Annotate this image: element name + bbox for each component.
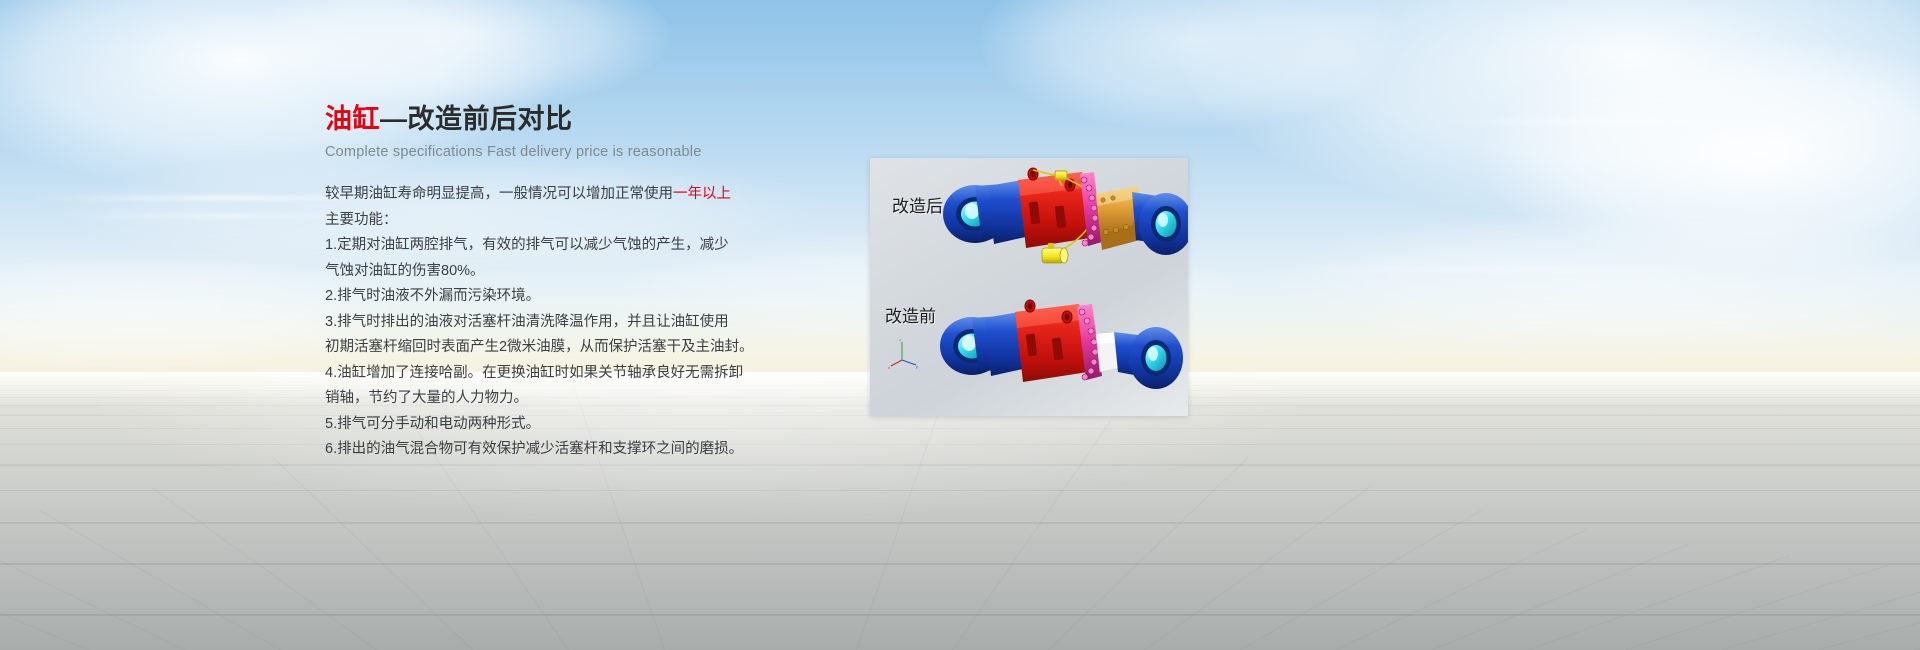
paving-line-vertical <box>0 529 185 650</box>
description-text: 4.油缸增加了连接哈副。在更换油缸时如果关节轴承良好无需拆卸 <box>325 365 743 381</box>
description-text: 较早期油缸寿命明显提高，一般情况可以增加正常使用 <box>325 186 673 202</box>
description-text: 5.排气可分手动和电动两种形式。 <box>325 416 540 432</box>
description-text: 2.排气时油液不外漏而污染环境。 <box>325 288 540 304</box>
description-line: 3.排气时排出的油液对活塞杆油清洗降温作用，并且让油缸使用 <box>325 310 755 336</box>
paving-line-vertical <box>1432 543 1689 650</box>
description-text: 1.定期对油缸两腔排气，有效的排气可以减少气蚀的产生，减少 <box>325 237 729 253</box>
description-highlight: 一年以上 <box>673 186 731 202</box>
cloud-streak <box>1430 120 1790 124</box>
paving-line-horizontal <box>0 563 1920 565</box>
banner-stage: 油缸—改造前后对比 Complete specifications Fast d… <box>0 0 1920 650</box>
cylinder-before-modification <box>940 300 1183 389</box>
svg-text:y: y <box>916 364 918 369</box>
page-title-rest: —改造前后对比 <box>380 104 573 134</box>
paving-line-horizontal <box>0 490 1920 491</box>
paving-line-horizontal <box>0 428 1920 429</box>
description-text: 初期活塞杆缩回时表面产生2微米油膜，从而保护活塞干及主油封。 <box>325 339 754 355</box>
description-line: 销轴，节约了大量的人力物力。 <box>325 386 755 412</box>
paving-line-vertical <box>856 387 948 650</box>
svg-text:z: z <box>899 337 901 342</box>
page-title-accent: 油缸 <box>325 104 380 134</box>
front-eye-blue-after <box>1132 192 1188 255</box>
product-image-panel: z x y 改造后 改造前 <box>870 158 1188 416</box>
description-text: 主要功能： <box>325 212 398 228</box>
cylinder-after-modification <box>943 168 1188 263</box>
description-text: 气蚀对油缸的伤害80%。 <box>325 263 485 279</box>
paving-line-horizontal <box>0 614 1920 616</box>
paving-line-vertical <box>1048 457 1249 650</box>
front-eye-blue-before <box>1114 327 1183 389</box>
page-title: 油缸—改造前后对比 <box>325 104 755 135</box>
paving-line-vertical <box>272 457 473 650</box>
axis-gizmo-icon: z x y <box>888 337 918 370</box>
label-after-modification: 改造后 <box>892 192 943 217</box>
bleed-fitting-after <box>1055 171 1067 180</box>
cloud-streak <box>1240 268 1760 272</box>
description-line: 1.定期对油缸两腔排气，有效的排气可以减少气蚀的产生，减少 <box>325 233 755 259</box>
description-line: 初期活塞杆缩回时表面产生2微米油膜，从而保护活塞干及主油封。 <box>325 335 755 361</box>
description-line: 主要功能： <box>325 208 755 234</box>
description-line: 6.排出的油气混合物可有效保护减少活塞杆和支撑环之间的磨损。 <box>325 437 755 463</box>
exhaust-valve-yellow-after <box>1042 243 1068 263</box>
description-text: 3.排气时排出的油液对活塞杆油清洗降温作用，并且让油缸使用 <box>325 314 729 330</box>
paving-line-vertical <box>1720 572 1920 650</box>
paving-line-vertical <box>1624 564 1889 650</box>
paving-line-vertical <box>151 487 377 650</box>
description-line: 气蚀对油缸的伤害80%。 <box>325 259 755 285</box>
paving-line-vertical <box>1528 555 1790 650</box>
label-before-modification: 改造前 <box>885 302 936 327</box>
paving-line-vertical <box>40 510 281 650</box>
description-text: 销轴，节约了大量的人力物力。 <box>325 390 528 406</box>
paving-line-vertical <box>1240 510 1481 650</box>
page-subtitle: Complete specifications Fast delivery pr… <box>325 144 755 160</box>
description-line: 较早期油缸寿命明显提高，一般情况可以增加正常使用一年以上 <box>325 182 755 208</box>
paving-line-vertical <box>1336 529 1587 650</box>
svg-text:x: x <box>888 365 890 370</box>
copy-block: 油缸—改造前后对比 Complete specifications Fast d… <box>325 104 755 463</box>
cylinder-body-red-before <box>1015 304 1088 382</box>
feature-description: 较早期油缸寿命明显提高，一般情况可以增加正常使用一年以上主要功能：1.定期对油缸… <box>325 182 755 463</box>
description-line: 2.排气时油液不外漏而污染环境。 <box>325 284 755 310</box>
paving-line-horizontal <box>0 444 1920 445</box>
paving-line-vertical <box>1144 487 1370 650</box>
description-line: 4.油缸增加了连接哈副。在更换油缸时如果关节轴承良好无需拆卸 <box>325 361 755 387</box>
description-line: 5.排气可分手动和电动两种形式。 <box>325 412 755 438</box>
description-text: 6.排出的油气混合物可有效保护减少活塞杆和支撑环之间的磨损。 <box>325 441 743 457</box>
paving-line-horizontal <box>0 464 1920 465</box>
paving-line-horizontal <box>0 522 1920 524</box>
